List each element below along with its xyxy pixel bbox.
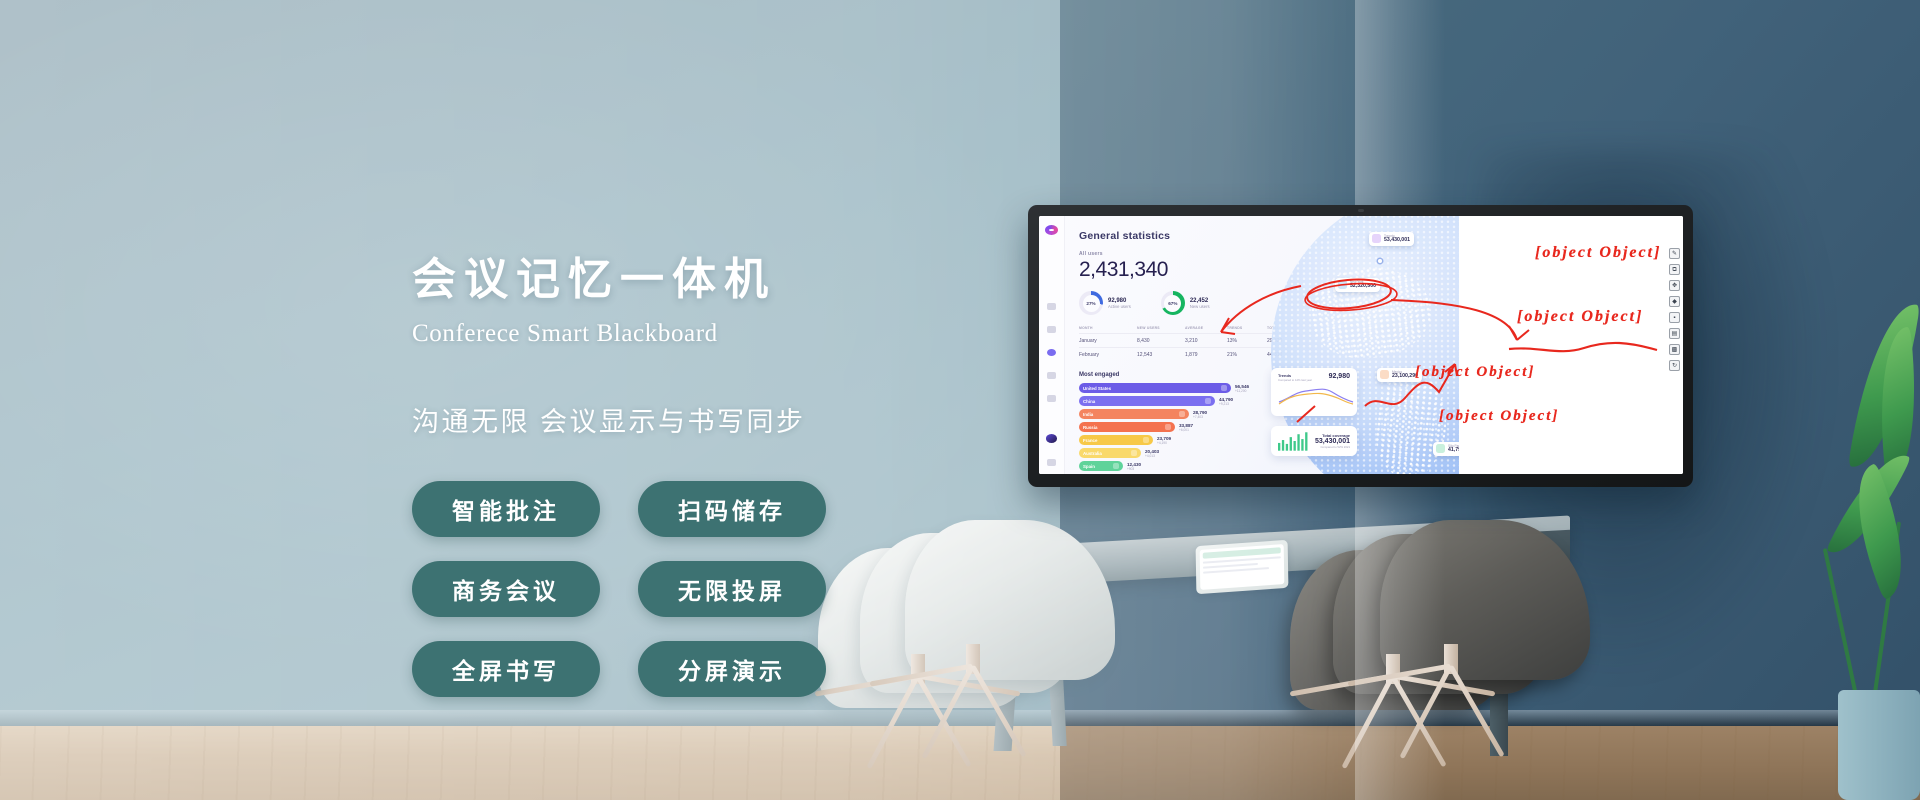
annotation-deep-research: [object Object] bbox=[1439, 408, 1559, 425]
flag-icon bbox=[1165, 424, 1171, 430]
column-header-average: AVERAGE bbox=[1185, 326, 1227, 330]
tablet-screen bbox=[1200, 544, 1285, 590]
camera-icon bbox=[1358, 209, 1364, 212]
bar-sub: +903 bbox=[1127, 467, 1141, 471]
cell-trends: 13% bbox=[1227, 338, 1267, 344]
globe-icon[interactable] bbox=[1047, 349, 1056, 356]
shape-icon[interactable]: ▪ bbox=[1669, 312, 1680, 323]
card-value: 92,980 bbox=[1329, 373, 1350, 380]
cell-month: January bbox=[1079, 338, 1137, 344]
chair-base bbox=[1378, 666, 1528, 786]
feature-pill-qr-save[interactable]: 扫码储存 bbox=[638, 481, 826, 537]
bar-sub: +7,403 bbox=[1193, 415, 1207, 419]
column-header-trends: TRENDS bbox=[1227, 326, 1267, 330]
smart-blackboard-display[interactable]: General statistics All users 2,431,340 2… bbox=[1028, 205, 1693, 487]
bar-sub: +9,213 bbox=[1219, 402, 1233, 406]
donut-caption-active: Active users bbox=[1108, 304, 1131, 309]
bar-value: 28,790 bbox=[1193, 410, 1207, 415]
column-header-month: MONTH bbox=[1079, 326, 1137, 330]
feature-pill-list: 智能批注 扫码储存 商务会议 无限投屏 全屏书写 分屏演示 bbox=[412, 481, 932, 697]
bar-label: Russia bbox=[1083, 425, 1097, 430]
donut-percent-new: 67% bbox=[1164, 295, 1181, 312]
bar-value: 56,546 bbox=[1235, 384, 1249, 389]
eraser-icon[interactable]: ◆ bbox=[1669, 296, 1680, 307]
cell-new-users: 12,543 bbox=[1137, 352, 1185, 358]
feature-pill-business-meeting[interactable]: 商务会议 bbox=[412, 561, 600, 617]
copy-icon[interactable]: ⧉ bbox=[1669, 264, 1680, 275]
page-title: 会议记忆一体机 bbox=[412, 255, 932, 306]
bar-label: China bbox=[1083, 399, 1095, 404]
dashboard-panel: General statistics All users 2,431,340 2… bbox=[1039, 216, 1459, 474]
donut-percent-active: 27% bbox=[1083, 295, 1100, 312]
donut-new-users: 67% 22,452 New users bbox=[1161, 291, 1210, 315]
plant-pot bbox=[1838, 690, 1920, 800]
feature-pill-annotation[interactable]: 智能批注 bbox=[412, 481, 600, 537]
qr-icon[interactable]: ▩ bbox=[1669, 344, 1680, 355]
map-badge-new-york[interactable]: New York52,320,500 bbox=[1335, 278, 1380, 292]
donut-value-new: 22,452 bbox=[1190, 298, 1210, 304]
dashboard-icon[interactable] bbox=[1047, 303, 1056, 310]
card-value: 53,430,001 bbox=[1315, 438, 1350, 445]
flag-icon bbox=[1143, 437, 1149, 443]
flag-icon bbox=[1113, 463, 1119, 469]
badge-value: 52,320,500 bbox=[1350, 284, 1376, 290]
column-header-new-users: NEW USERS bbox=[1137, 326, 1185, 330]
bar-value: 20,403 bbox=[1145, 449, 1159, 454]
bar-sub: +6,001 bbox=[1179, 428, 1193, 432]
pen-icon[interactable]: ✎ bbox=[1669, 248, 1680, 259]
notifications-icon[interactable] bbox=[1047, 459, 1056, 466]
donut-active-users: 27% 92,980 Active users bbox=[1079, 291, 1131, 315]
avatar[interactable] bbox=[1046, 434, 1057, 443]
cell-average: 1,879 bbox=[1185, 352, 1227, 358]
annotation-strategy-analysis: [object Object] bbox=[1517, 308, 1643, 326]
feature-pill-split-screen[interactable]: 分屏演示 bbox=[638, 641, 826, 697]
display-screen[interactable]: General statistics All users 2,431,340 2… bbox=[1039, 216, 1683, 474]
badge-value: 53,430,001 bbox=[1384, 238, 1410, 244]
hero-tagline: 沟通无限 会议显示与书写同步 bbox=[412, 400, 932, 439]
annotation-globalization: [object Object] bbox=[1535, 244, 1661, 262]
annotation-market-culture: [object Object] bbox=[1415, 364, 1535, 381]
save-icon[interactable]: ▤ bbox=[1669, 328, 1680, 339]
card-sub: Compared to 12% last year bbox=[1278, 378, 1312, 382]
cell-month: February bbox=[1079, 352, 1137, 358]
bar-label: France bbox=[1083, 438, 1097, 443]
settings-gear-icon[interactable] bbox=[1047, 395, 1056, 402]
reports-icon[interactable] bbox=[1047, 326, 1056, 333]
bar-value: 12,430 bbox=[1127, 462, 1141, 467]
feature-pill-unlimited-cast[interactable]: 无限投屏 bbox=[638, 561, 826, 617]
cell-new-users: 8,430 bbox=[1137, 338, 1185, 344]
flag-icon bbox=[1205, 398, 1211, 404]
donut-chart-new: 67% bbox=[1161, 291, 1185, 315]
flag-icon bbox=[1179, 411, 1185, 417]
bar-label: United States bbox=[1083, 386, 1111, 391]
donut-chart-active: 27% bbox=[1079, 291, 1103, 315]
total-coverage-card[interactable]: Total coverage 53,430,001 Compared to 52… bbox=[1271, 426, 1357, 456]
board-toolbar[interactable]: ✎ ⧉ ✥ ◆ ▪ ▤ ▩ ↻ bbox=[1669, 248, 1680, 371]
bar-sub: +4,190 bbox=[1157, 441, 1171, 445]
bar-label: India bbox=[1083, 412, 1093, 417]
card-sub: Compared to 52% 2021 bbox=[1315, 445, 1350, 449]
bar-value: 23,709 bbox=[1157, 436, 1171, 441]
dashboard-sidebar[interactable] bbox=[1039, 216, 1065, 474]
bar-value: 44,790 bbox=[1219, 397, 1233, 402]
cell-average: 3,210 bbox=[1185, 338, 1227, 344]
bar-sub: +11,200 bbox=[1235, 389, 1249, 393]
trend-line-chart bbox=[1278, 384, 1354, 406]
tablet-device[interactable] bbox=[1196, 540, 1289, 594]
coverage-bar-chart bbox=[1278, 431, 1311, 451]
wallet-icon[interactable] bbox=[1047, 372, 1056, 379]
feature-pill-fullscreen-write[interactable]: 全屏书写 bbox=[412, 641, 600, 697]
donut-caption-new: New users bbox=[1190, 304, 1210, 309]
bar-label: Spain bbox=[1083, 464, 1095, 469]
flag-icon bbox=[1221, 385, 1227, 391]
cell-trends: 21% bbox=[1227, 352, 1267, 358]
hero-copy: 会议记忆一体机 Conferece Smart Blackboard 沟通无限 … bbox=[412, 255, 932, 697]
map-badge-toronto[interactable]: Toronto53,430,001 bbox=[1369, 232, 1414, 246]
bar-sub: +4,013 bbox=[1145, 454, 1159, 458]
map-pin bbox=[1378, 259, 1382, 263]
bar-label: Australia bbox=[1083, 451, 1102, 456]
app-logo-icon bbox=[1045, 225, 1058, 235]
bar-value: 33,887 bbox=[1179, 423, 1193, 428]
refresh-icon[interactable]: ↻ bbox=[1669, 360, 1680, 371]
pointer-icon[interactable]: ✥ bbox=[1669, 280, 1680, 291]
trends-card[interactable]: TrendsCompared to 12% last year 92,980 bbox=[1271, 368, 1357, 416]
flag-icon bbox=[1131, 450, 1137, 456]
page-subtitle: Conferece Smart Blackboard bbox=[412, 320, 932, 348]
